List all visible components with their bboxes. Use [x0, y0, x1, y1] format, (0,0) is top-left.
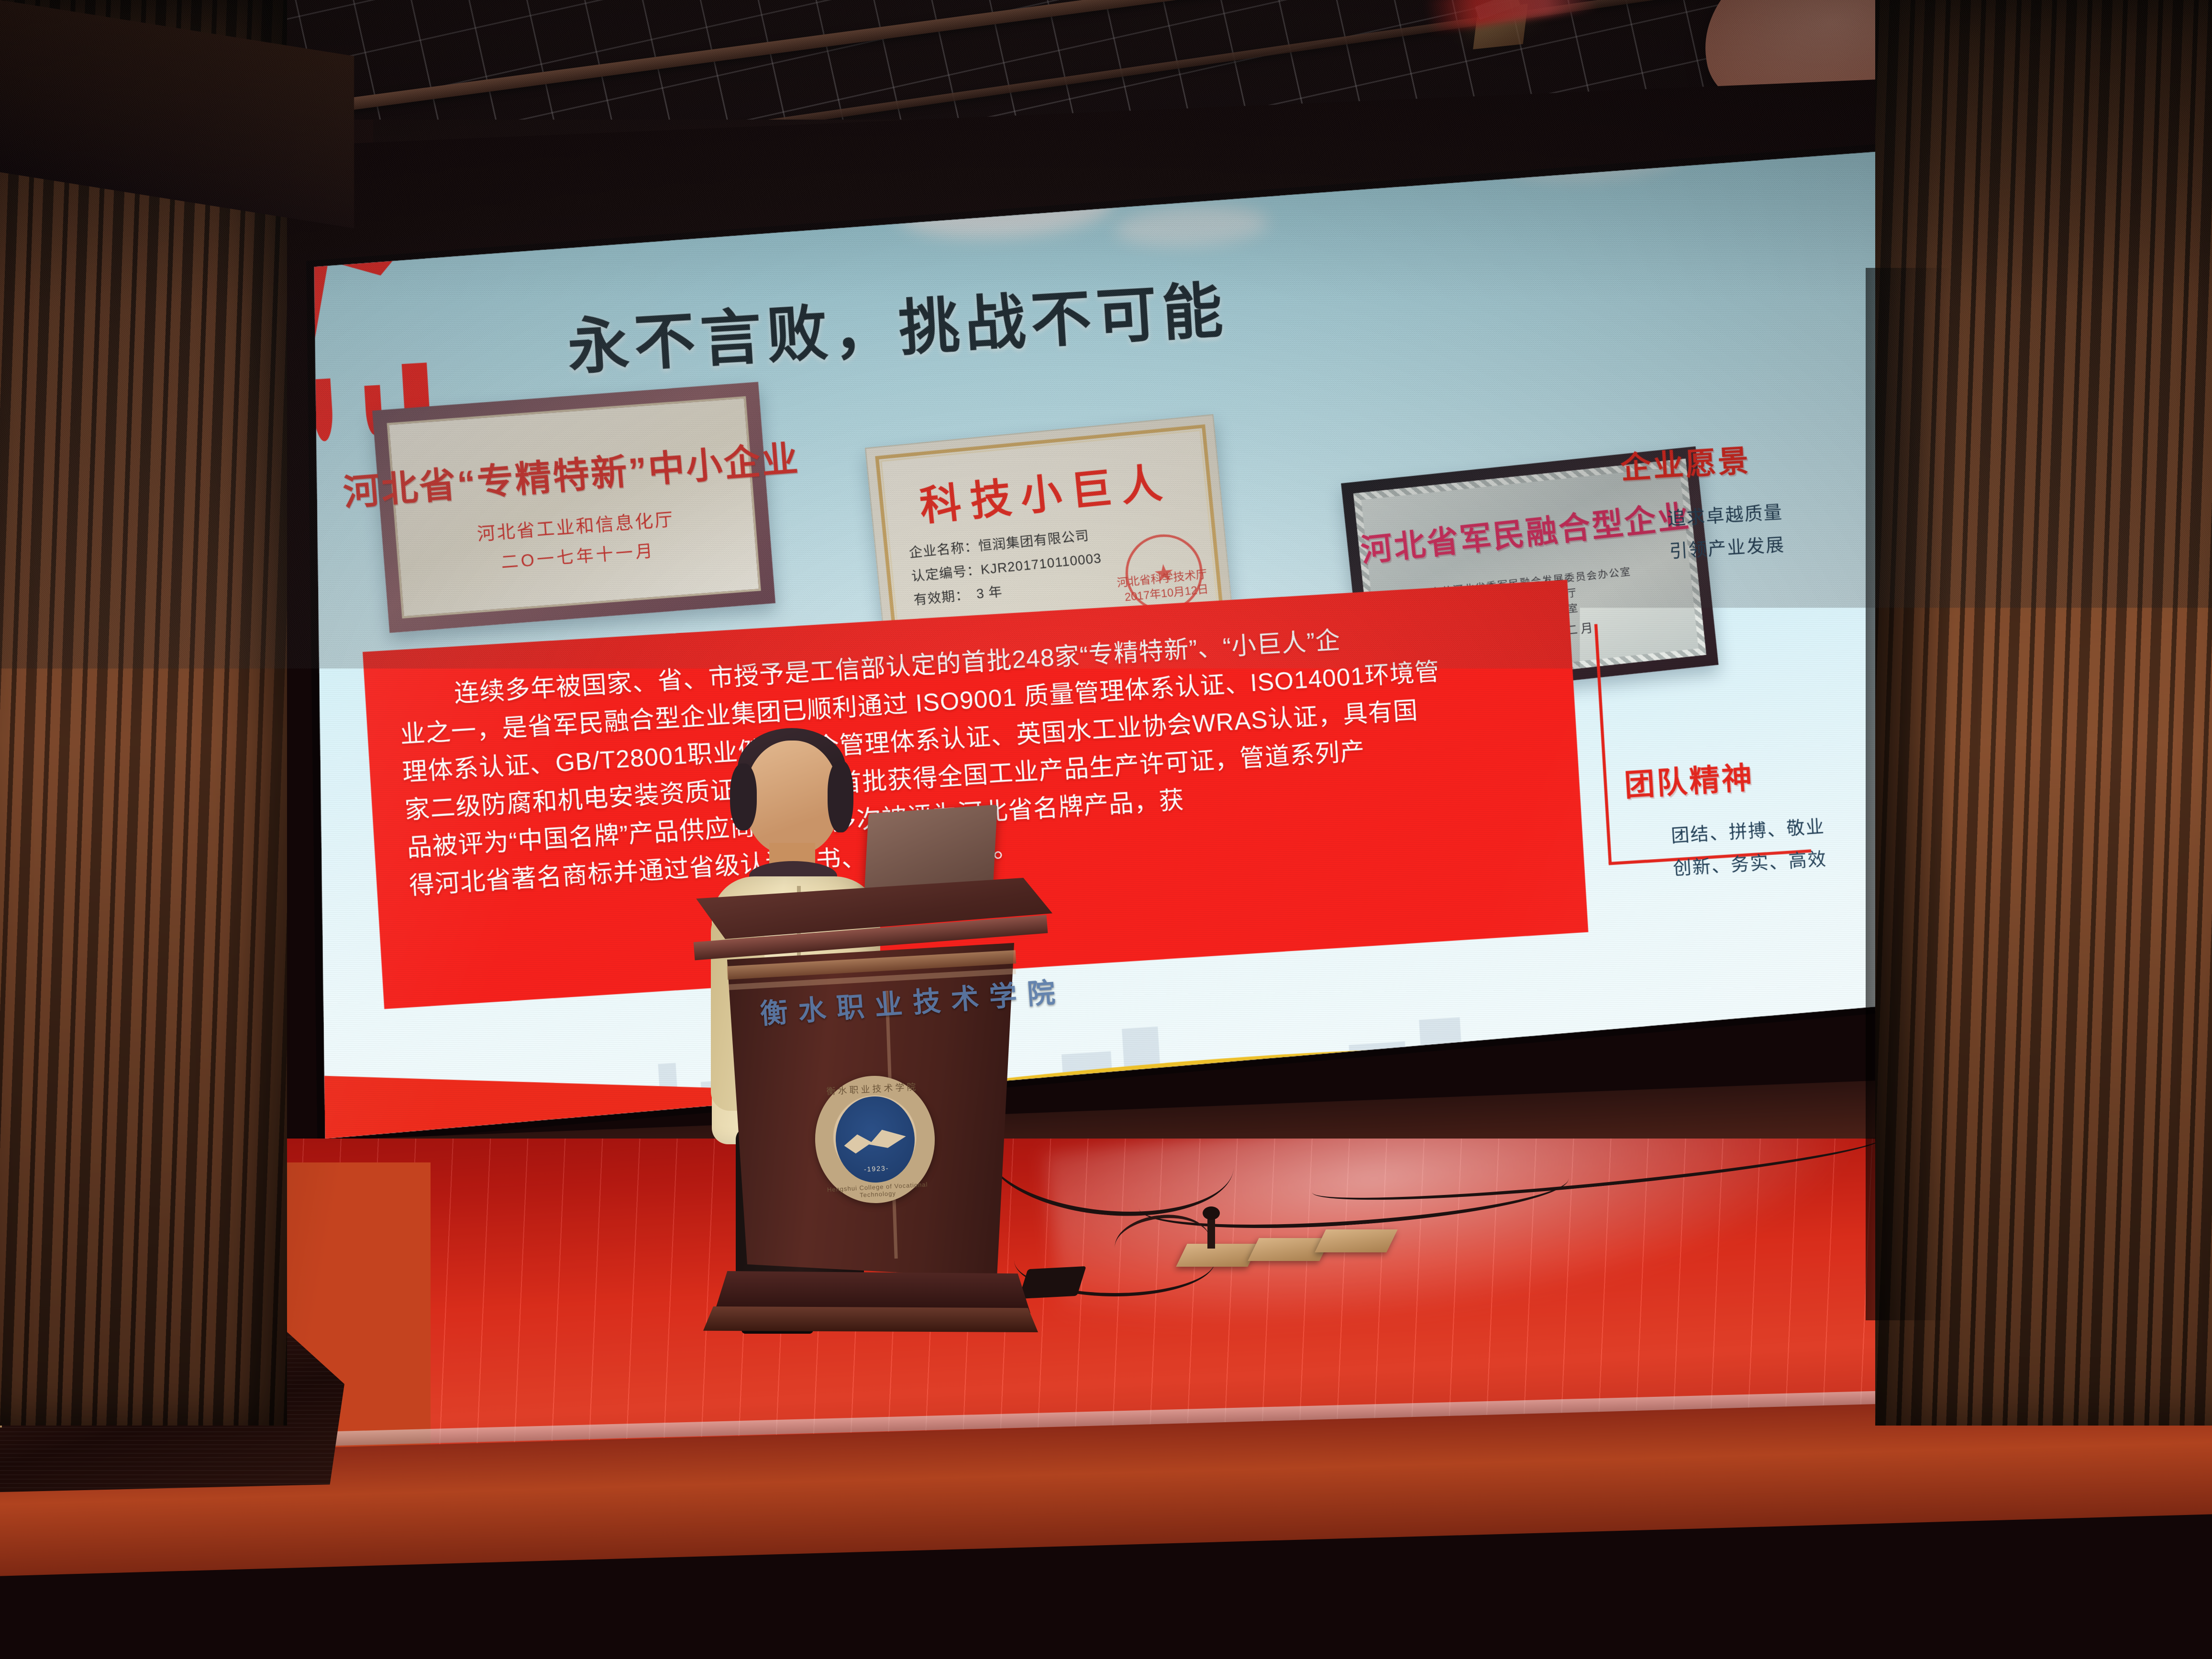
- floor-junction-box: [1018, 1266, 1086, 1299]
- curtain-fold-shadow: [1866, 268, 1952, 1320]
- presenter-head: [745, 741, 839, 854]
- panel-team-spirit: 团队精神 团结、拼搏、敬业 创新、务实、高效: [1623, 741, 1904, 888]
- stage-curtain-left: [0, 0, 287, 1426]
- stage-photo: 永不言败，挑战不可能 河北省“专精特新”中小企业 河北省工业和信息化厅 二O一七…: [0, 0, 2212, 1659]
- panel-corporate-vision: 企业愿景 追求卓越质量 引领产业发展: [1619, 425, 1904, 571]
- plaque-zhuanjingtexin: 河北省“专精特新”中小企业 河北省工业和信息化厅 二O一七年十一月: [372, 382, 775, 633]
- led-screen-surface: 永不言败，挑战不可能 河北省“专精特新”中小企业 河北省工业和信息化厅 二O一七…: [304, 146, 1903, 1143]
- plaque-title: 河北省“专精特新”中小企业: [341, 430, 801, 516]
- lectern-plinth: [703, 1306, 1038, 1332]
- lectern: 衡水职业技术学院 衡水职业技术学院 -1923- Hengshui Colleg…: [718, 878, 1024, 1332]
- presenter-hair-side: [828, 761, 853, 832]
- presentation-slide: 永不言败，挑战不可能 河北省“专精特新”中小企业 河北省工业和信息化厅 二O一七…: [304, 146, 1903, 1143]
- led-screen: 永不言败，挑战不可能 河北省“专精特新”中小企业 河北省工业和信息化厅 二O一七…: [300, 143, 1907, 1146]
- presenter-hair-side: [730, 763, 757, 830]
